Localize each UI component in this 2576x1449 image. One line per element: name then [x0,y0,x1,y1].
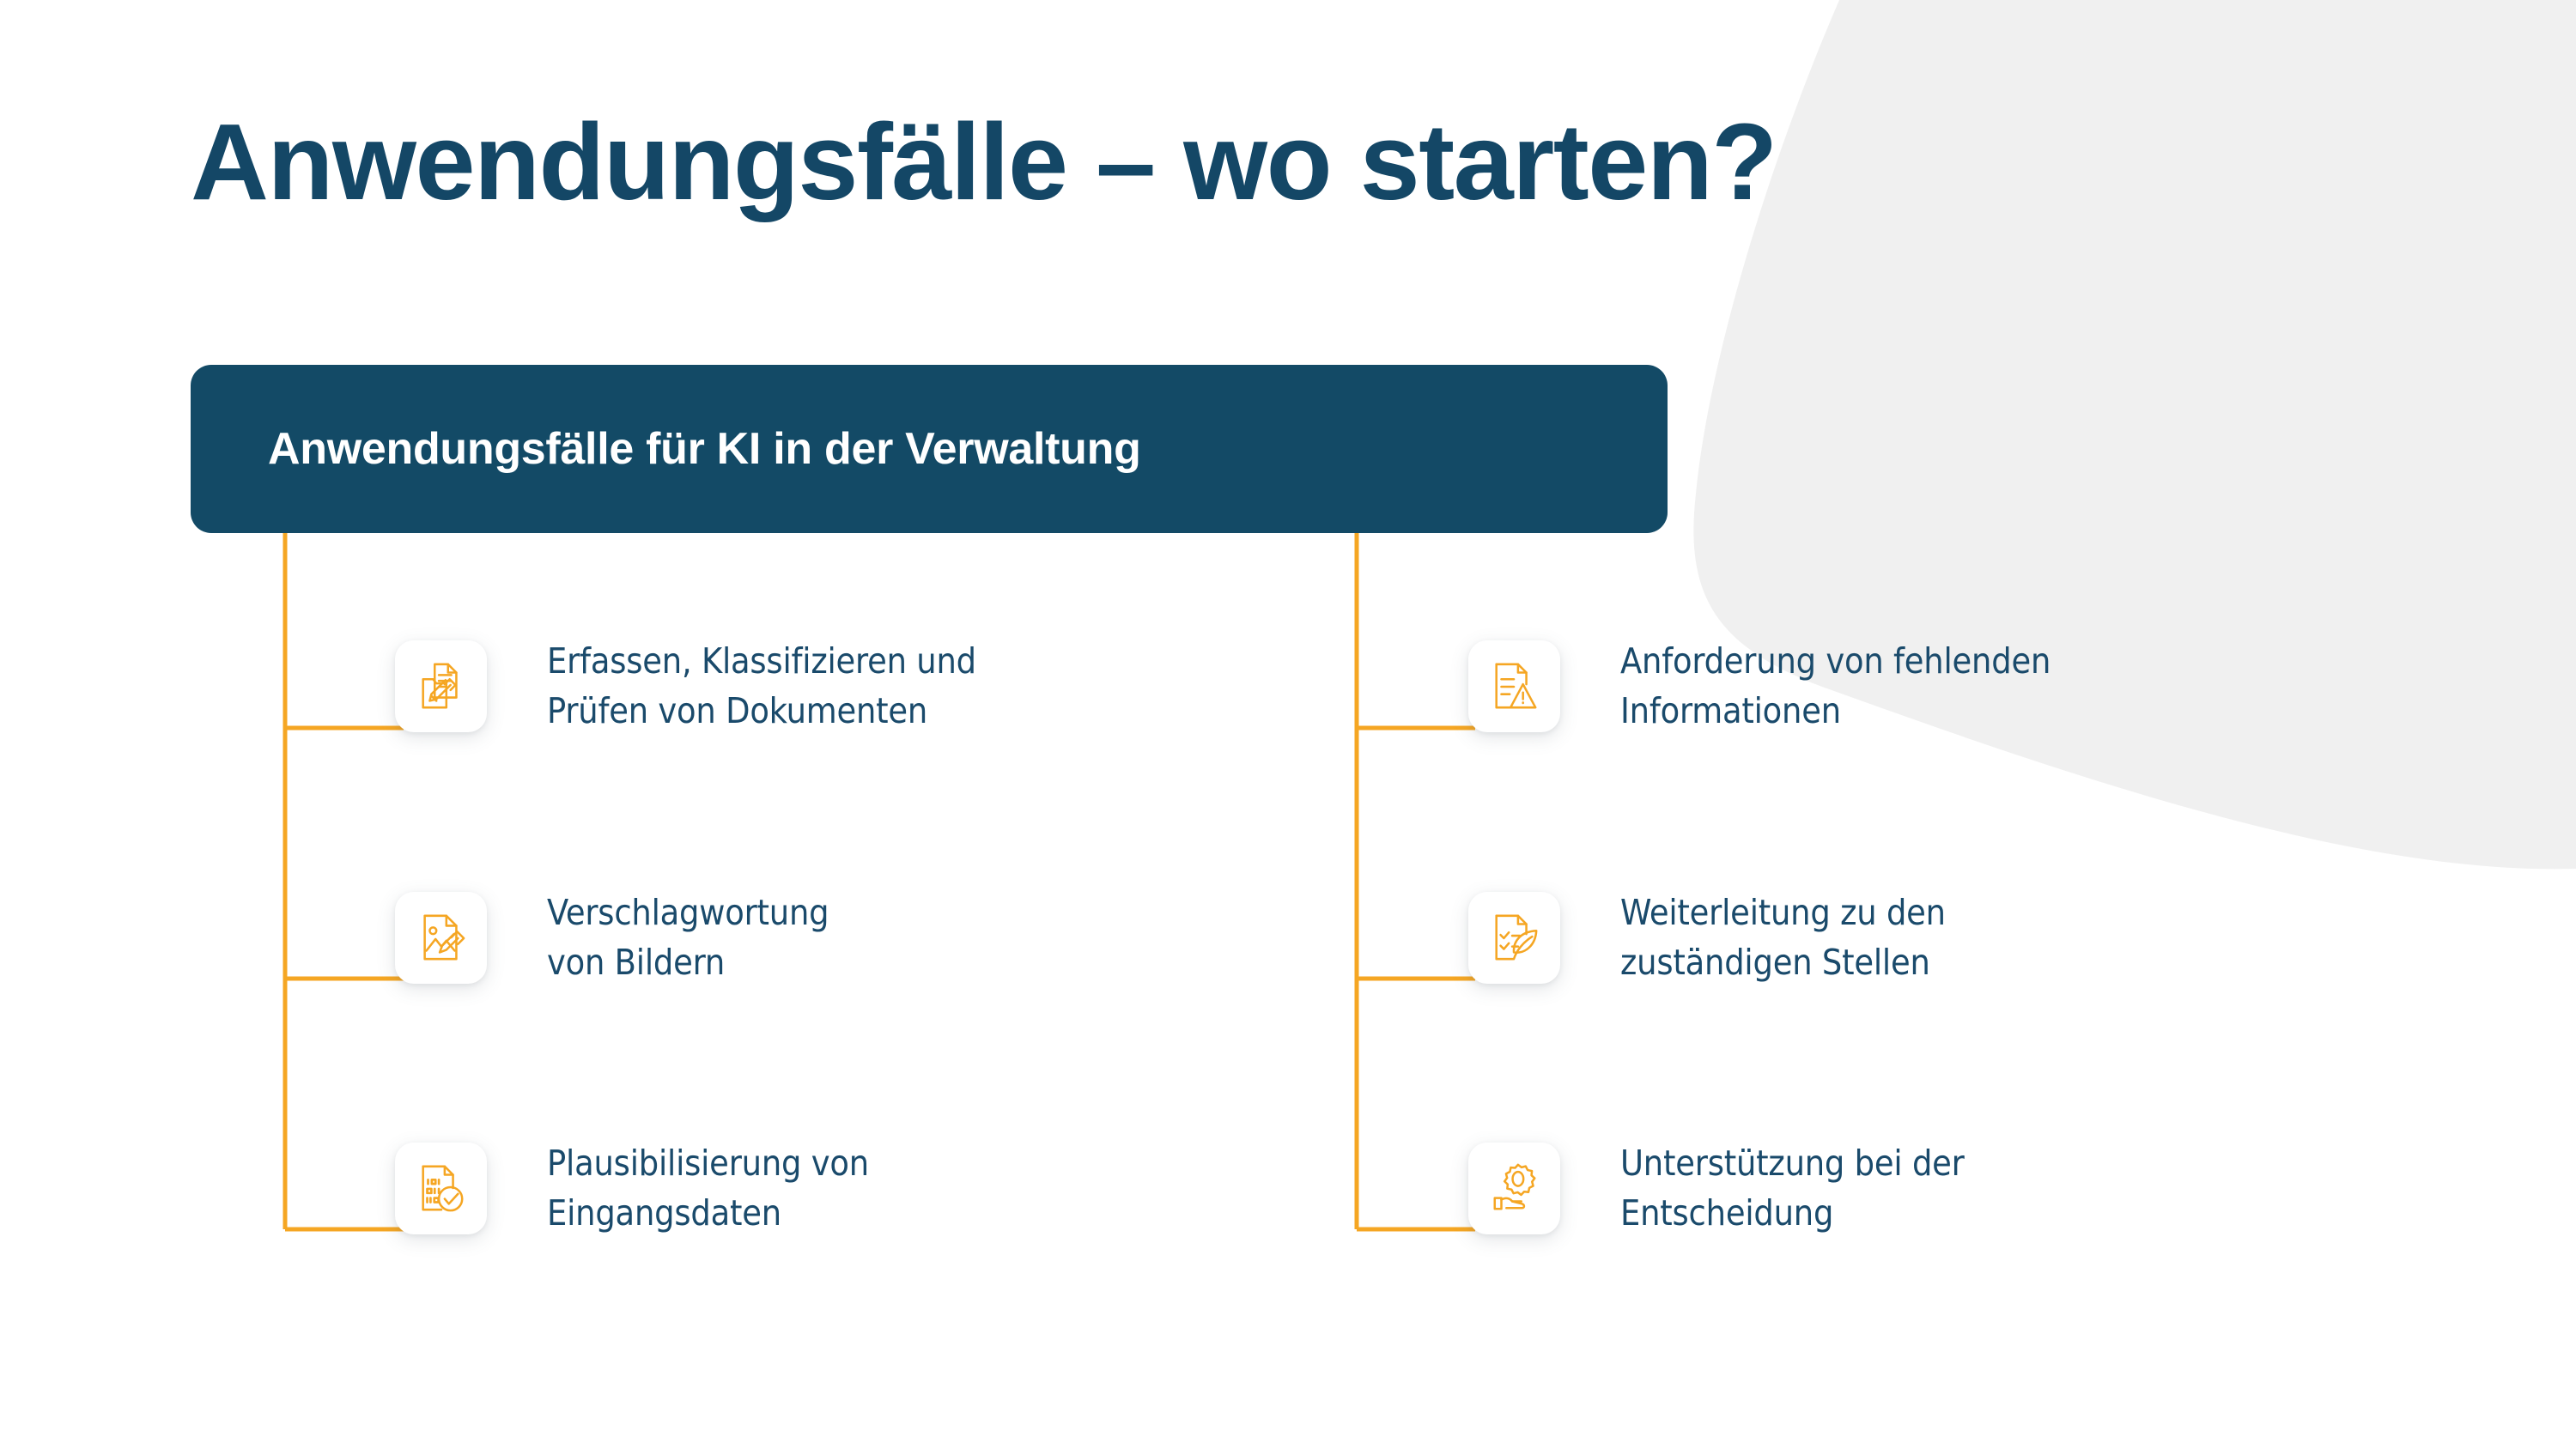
gear-hand-icon [1488,1161,1541,1215]
list-item[interactable]: Unterstützung bei der Entscheidung [1468,1138,1965,1238]
icon-card [395,892,487,984]
icon-card [395,1143,487,1234]
list-item[interactable]: Anforderung von fehlenden Informationen [1468,636,2050,736]
icon-card [1468,892,1560,984]
icon-card [1468,1143,1560,1234]
list-item-label: Anforderung von fehlenden Informationen [1620,636,2050,736]
icon-card [1468,640,1560,732]
root-node-label: Anwendungsfälle für KI in der Verwaltung [191,423,1141,475]
list-item-label: Weiterleitung zu den zuständigen Stellen [1620,888,1946,987]
list-item[interactable]: Plausibilisierung von Eingangsdaten [395,1138,869,1238]
list-item-label: Verschlagwortung von Bildern [547,888,829,987]
document-check-icon [415,1161,468,1215]
slide-canvas: Anwendungsfälle – wo starten? Anwendungs… [0,0,2576,1449]
list-item[interactable]: Verschlagwortung von Bildern [395,888,829,987]
checklist-feather-icon [1488,911,1541,964]
list-item-label: Erfassen, Klassifizieren und Prüfen von … [547,636,976,736]
list-item-label: Unterstützung bei der Entscheidung [1620,1138,1965,1238]
root-node-header: Anwendungsfälle für KI in der Verwaltung [191,365,1668,533]
document-warning-icon [1488,659,1541,712]
list-item-label: Plausibilisierung von Eingangsdaten [547,1138,869,1238]
page-title: Anwendungsfälle – wo starten? [191,101,2423,222]
image-pencil-icon [415,911,468,964]
list-item[interactable]: Erfassen, Klassifizieren und Prüfen von … [395,636,976,736]
icon-card [395,640,487,732]
list-item[interactable]: Weiterleitung zu den zuständigen Stellen [1468,888,1946,987]
document-pencil-icon [415,659,468,712]
